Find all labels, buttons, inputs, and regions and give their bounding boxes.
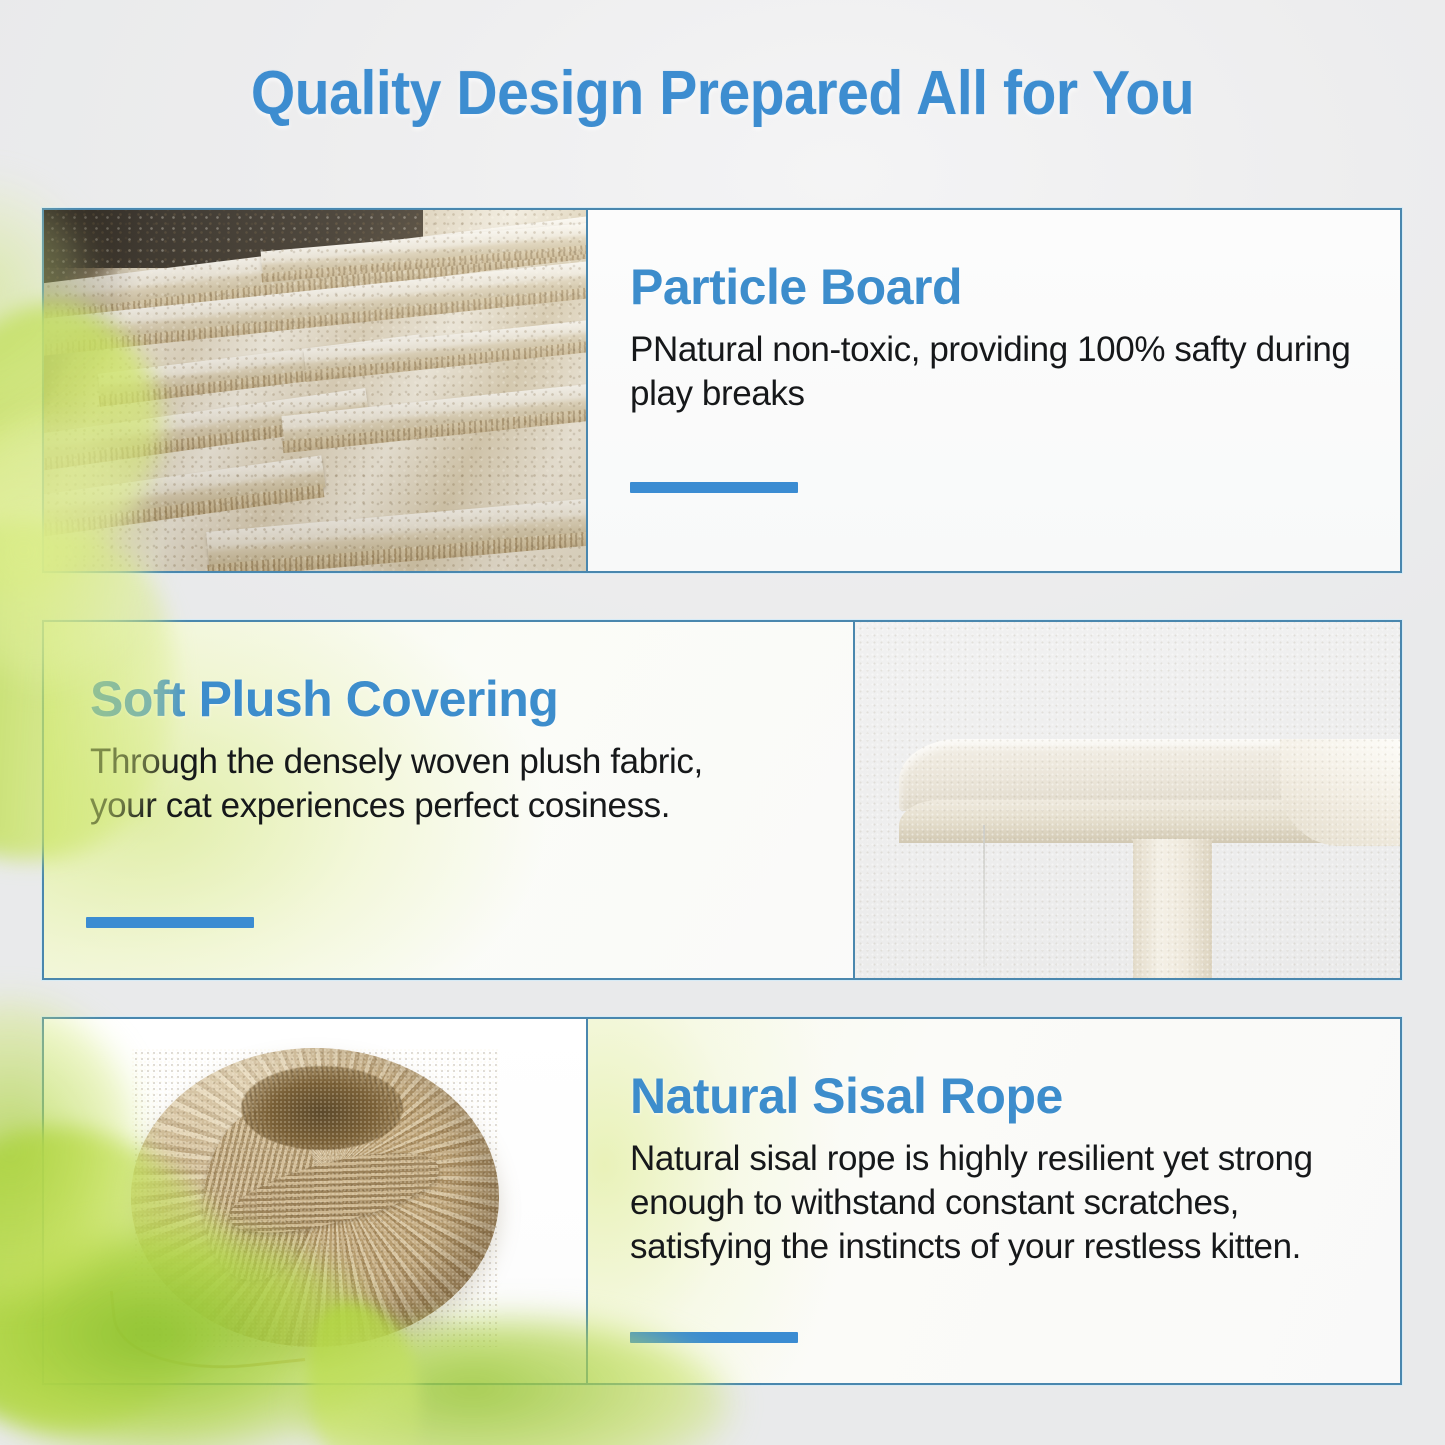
feature-heading: Soft Plush Covering (90, 674, 823, 724)
feature-body: Natural sisal rope is highly resilient y… (630, 1137, 1360, 1269)
plush-perch-photo (855, 622, 1400, 978)
accent-bar (630, 482, 798, 493)
page-title: Quality Design Prepared All for You (58, 58, 1387, 129)
accent-bar (630, 1332, 798, 1343)
feature-body: Through the densely woven plush fabric, … (90, 740, 770, 828)
feature-heading: Particle Board (630, 262, 1360, 312)
feature-card-particle-board: Particle Board PNatural non-toxic, provi… (42, 208, 1402, 573)
feature-heading: Natural Sisal Rope (630, 1071, 1360, 1121)
feature-body: PNatural non-toxic, providing 100% safty… (630, 328, 1360, 416)
particle-board-photo (44, 210, 586, 571)
feature-card-natural-sisal-rope: Natural Sisal Rope Natural sisal rope is… (42, 1017, 1402, 1385)
accent-bar (86, 917, 254, 928)
product-feature-poster: Quality Design Prepared All for You (0, 0, 1445, 1445)
sisal-rope-photo (44, 1019, 586, 1383)
feature-card-soft-plush-covering: Soft Plush Covering Through the densely … (42, 620, 1402, 980)
sisal-rope-text: Natural Sisal Rope Natural sisal rope is… (588, 1019, 1400, 1383)
particle-board-text: Particle Board PNatural non-toxic, provi… (588, 210, 1400, 571)
soft-plush-text: Soft Plush Covering Through the densely … (44, 622, 853, 978)
